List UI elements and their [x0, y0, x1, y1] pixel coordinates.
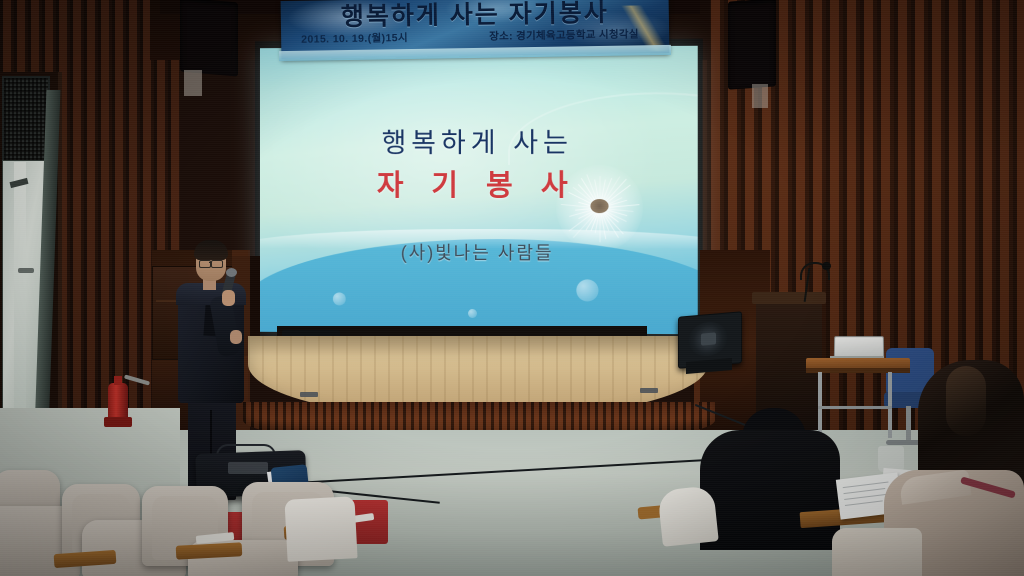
ceiling-speaker-left-icon [180, 0, 238, 77]
door-handle-icon[interactable] [18, 268, 34, 273]
stage-floor-plate [300, 392, 318, 397]
slide-organization: (사)빛나는 사람들 [260, 239, 698, 266]
slide-bubble [333, 292, 346, 305]
woman-hair-highlight [946, 366, 986, 436]
office-chair-post [906, 406, 911, 442]
speaker-dustcap [701, 332, 716, 345]
ceiling-speaker-right-icon [728, 0, 776, 90]
projection-screen: 행복하게 사는 자 기 봉 사 (사)빛나는 사람들 [260, 46, 698, 334]
mesh-transom-window-icon [2, 76, 50, 162]
av-table-rail [818, 406, 892, 409]
fire-extinguisher-icon [108, 383, 128, 421]
slide-headline-1: 행복하게 사는 [260, 120, 698, 160]
gooseneck-mic-head [822, 262, 831, 270]
banner-date: 2015. 10. 19.(월)15시 [301, 30, 408, 47]
ceiling-speaker-left-bracket [184, 70, 202, 96]
presenter-hand-lower [230, 330, 242, 344]
slide-bubble [576, 279, 598, 301]
av-table-leg [888, 372, 892, 438]
ceiling-speaker-right-bracket [752, 84, 768, 108]
slide-headline-2: 자 기 봉 사 [260, 162, 698, 204]
eyeglasses-icon-right [211, 260, 223, 268]
slide-bubble [468, 309, 477, 318]
door-glass-highlight [14, 162, 26, 408]
woman-lap [832, 528, 922, 576]
presenter-hand [222, 290, 235, 306]
eyeglasses-bridge [209, 262, 212, 263]
fire-extinguisher-neck [114, 376, 122, 385]
equipment-case-pad [228, 462, 268, 474]
person-in-black [700, 430, 840, 550]
banner-place: 장소: 경기체육고등학교 시청각실 [489, 26, 639, 43]
auditorium-seat[interactable] [284, 496, 357, 562]
microphone-grille [226, 268, 237, 277]
fire-extinguisher-base [104, 417, 132, 427]
auditorium-photo: 행복하게 사는 자 기 봉 사 (사)빛나는 사람들 행복하게 사는 자기봉사 … [0, 0, 1024, 576]
lectern-top [752, 292, 826, 304]
auditorium-seat[interactable] [657, 485, 719, 547]
stage-floor-plate [640, 388, 658, 393]
presenter-hair [194, 240, 228, 260]
